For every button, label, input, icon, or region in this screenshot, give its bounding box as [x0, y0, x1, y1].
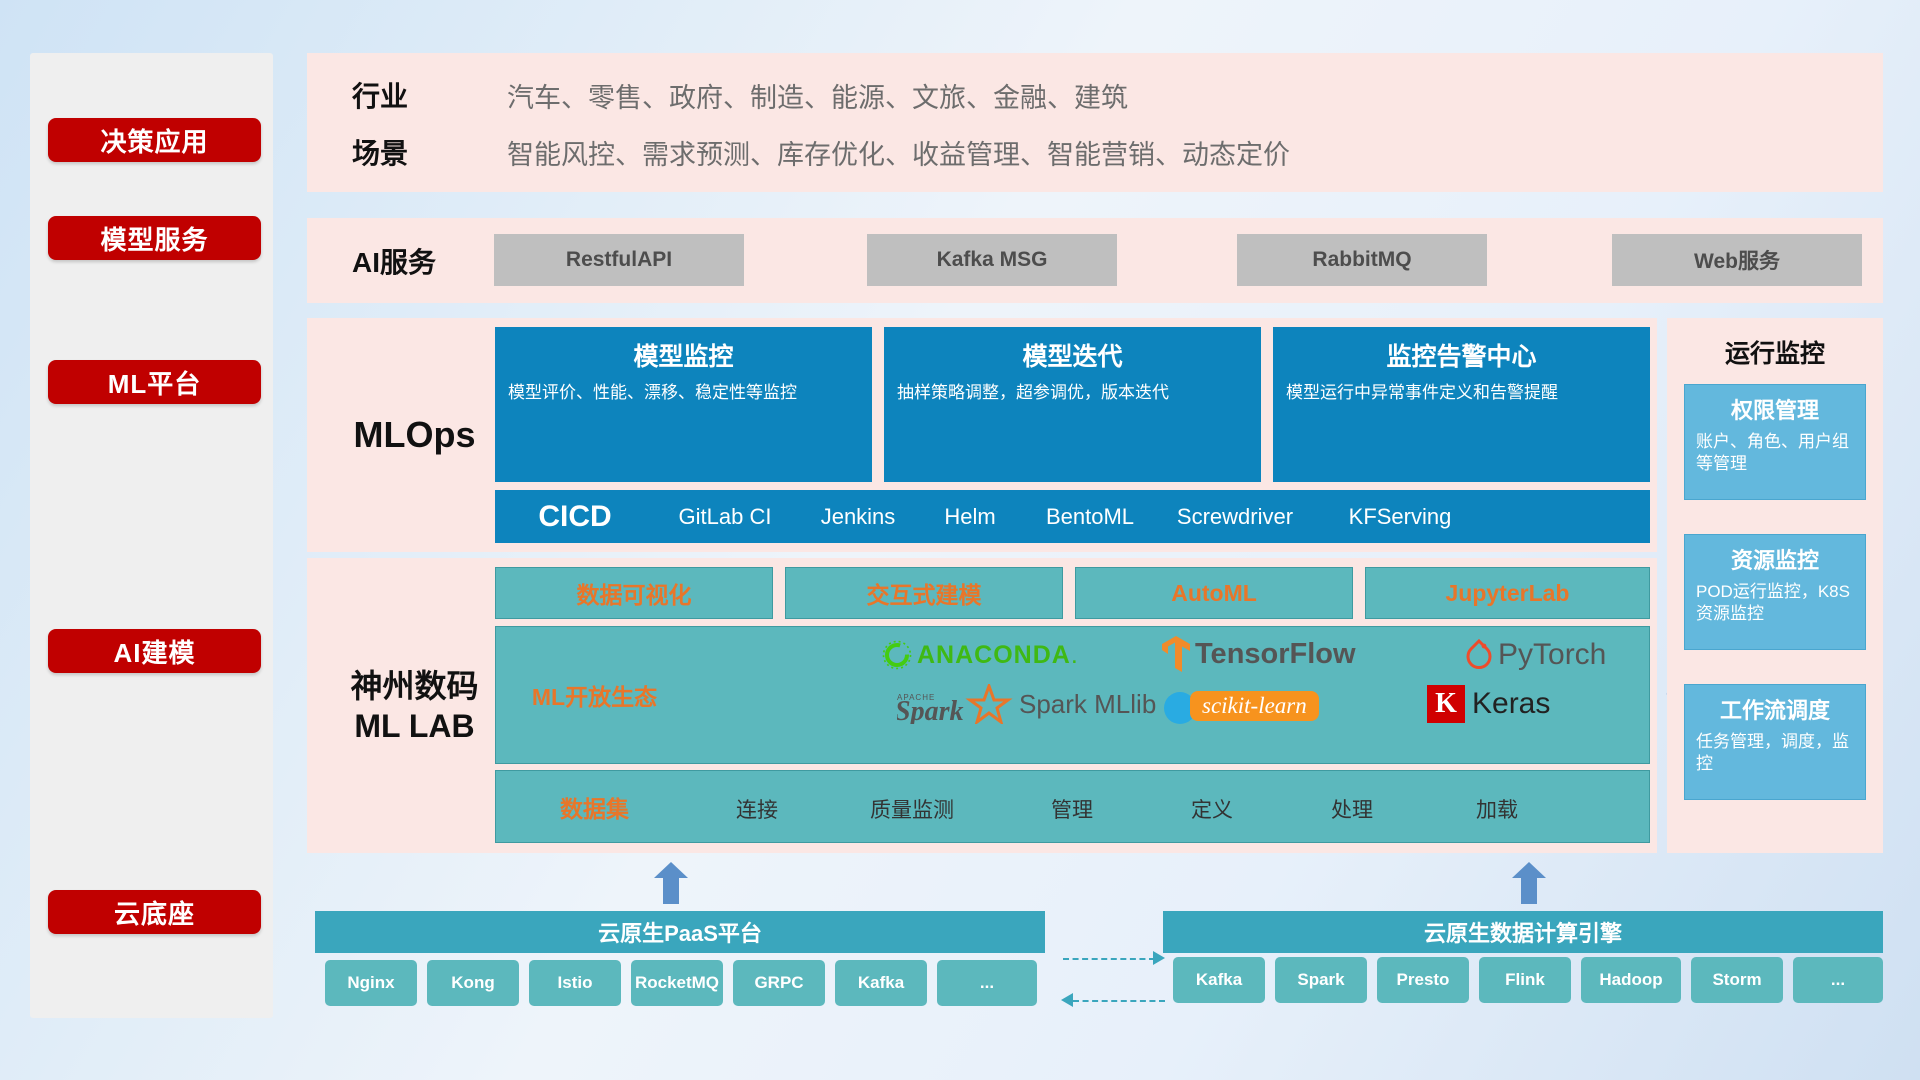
mlops-card-title: 模型迭代 [897, 337, 1248, 373]
tensorflow-logo-text: TensorFlow [1195, 638, 1356, 671]
mlops-card-alert-center[interactable]: 监控告警中心 模型运行中异常事件定义和告警提醒 [1273, 327, 1650, 482]
tensorflow-logo: TensorFlow [1162, 634, 1356, 674]
dataset-item-connect[interactable]: 连接 [692, 794, 822, 824]
ml-lab-label-line2: ML LAB [354, 706, 474, 746]
engine-chip-hadoop[interactable]: Hadoop [1581, 957, 1681, 1003]
monitoring-card-title: 工作流调度 [1696, 693, 1854, 725]
layer-label-aimodeling[interactable]: AI建模 [48, 629, 261, 673]
mllib-text: Spark MLlib [1019, 689, 1156, 720]
spark-icon: APACHE Spark [897, 684, 1015, 724]
anaconda-logo-text: ANACONDA [917, 641, 1071, 670]
data-engine-title-bar: 云原生数据计算引擎 [1163, 911, 1883, 953]
monitoring-panel: 运行监控 权限管理 账户、角色、用户组等管理 资源监控 POD运行监控，K8S资… [1667, 318, 1883, 853]
cicd-item-helm[interactable]: Helm [915, 504, 1025, 529]
anaconda-icon [882, 640, 912, 670]
spark-mllib-logo: APACHE Spark Spark MLlib [897, 684, 1156, 724]
engine-chip-kafka[interactable]: Kafka [1173, 957, 1265, 1003]
paas-up-arrow-icon [654, 862, 688, 904]
dataset-item-load[interactable]: 加载 [1432, 794, 1562, 824]
cicd-item-screwdriver[interactable]: Screwdriver [1160, 504, 1310, 529]
monitoring-card-body: POD运行监控，K8S资源监控 [1696, 581, 1854, 626]
monitoring-card-title: 资源监控 [1696, 543, 1854, 575]
mlops-panel: MLOps 模型监控 模型评价、性能、漂移、稳定性等监控 模型迭代 抽样策略调整… [307, 318, 1657, 552]
monitoring-card-permissions[interactable]: 权限管理 账户、角色、用户组等管理 [1684, 384, 1866, 500]
dataset-lead: 数据集 [507, 770, 682, 843]
engine-chip-storm[interactable]: Storm [1691, 957, 1783, 1003]
engine-chip-more[interactable]: ... [1793, 957, 1883, 1003]
mlops-card-title: 模型监控 [508, 337, 859, 373]
scikit-learn-logo-text: scikit-learn [1202, 693, 1307, 718]
layer-rail: 决策应用 模型服务 ML平台 AI建模 云底座 [30, 53, 273, 1018]
ml-lab-tab-visualization[interactable]: 数据可视化 [495, 567, 773, 619]
connector-arrow-left-icon [1061, 993, 1073, 1007]
cicd-item-jenkins[interactable]: Jenkins [810, 504, 906, 529]
ml-lab-tab-jupyterlab[interactable]: JupyterLab [1365, 567, 1650, 619]
mlops-card-model-monitoring[interactable]: 模型监控 模型评价、性能、漂移、稳定性等监控 [495, 327, 872, 482]
ai-service-chip-webservice[interactable]: Web服务 [1612, 234, 1862, 286]
layer-label-cloudbase[interactable]: 云底座 [48, 890, 261, 934]
keras-logo-text: Keras [1472, 687, 1550, 721]
paas-chip-rocketmq[interactable]: RocketMQ [631, 960, 723, 1006]
architecture-diagram: 决策应用 模型服务 ML平台 AI建模 云底座 行业 汽车、零售、政府、制造、能… [0, 0, 1920, 1080]
mlops-card-model-iteration[interactable]: 模型迭代 抽样策略调整，超参调优，版本迭代 [884, 327, 1261, 482]
monitoring-card-resources[interactable]: 资源监控 POD运行监控，K8S资源监控 [1684, 534, 1866, 650]
engine-chip-presto[interactable]: Presto [1377, 957, 1469, 1003]
engine-chip-spark[interactable]: Spark [1275, 957, 1367, 1003]
svg-text:Spark: Spark [897, 696, 963, 724]
scikit-learn-logo: scikit-learn [1162, 686, 1319, 726]
keras-logo: K Keras [1427, 684, 1550, 724]
scenario-row-label: 场景 [352, 128, 472, 176]
dataset-item-manage[interactable]: 管理 [1007, 794, 1137, 824]
ai-service-panel: AI服务 RestfulAPI Kafka MSG RabbitMQ Web服务 [307, 218, 1883, 303]
monitoring-card-workflow[interactable]: 工作流调度 任务管理，调度，监控 [1684, 684, 1866, 800]
data-engine-up-arrow-icon [1512, 862, 1546, 904]
connector-arrow-right-icon [1153, 951, 1165, 965]
dataset-item-process[interactable]: 处理 [1287, 794, 1417, 824]
tensorflow-icon [1162, 636, 1190, 672]
cicd-item-gitlabci[interactable]: GitLab CI [650, 504, 800, 529]
ml-lab-panel: 神州数码 ML LAB 数据可视化 交互式建模 AutoML JupyterLa… [307, 558, 1657, 853]
paas-chip-kong[interactable]: Kong [427, 960, 519, 1006]
keras-icon: K [1427, 685, 1465, 723]
dataset-item-quality[interactable]: 质量监测 [832, 794, 992, 824]
ai-service-label: AI服务 [352, 218, 512, 303]
ai-service-chip-rabbitmq[interactable]: RabbitMQ [1237, 234, 1487, 286]
ai-service-chip-restfulapi[interactable]: RestfulAPI [494, 234, 744, 286]
paas-chip-more[interactable]: ... [937, 960, 1037, 1006]
mlops-card-title: 监控告警中心 [1286, 337, 1637, 373]
anaconda-logo: ANACONDA . [882, 638, 1078, 672]
ml-lab-tab-interactive[interactable]: 交互式建模 [785, 567, 1063, 619]
industry-row-value: 汽车、零售、政府、制造、能源、文旅、金融、建筑 [507, 71, 1128, 119]
monitoring-card-body: 账户、角色、用户组等管理 [1696, 431, 1854, 476]
monitoring-title: 运行监控 [1667, 334, 1883, 370]
paas-chip-kafka[interactable]: Kafka [835, 960, 927, 1006]
connector-dash-left [1073, 1000, 1165, 1002]
monitoring-card-title: 权限管理 [1696, 393, 1854, 425]
ml-ecosystem-lead: ML开放生态 [507, 626, 682, 764]
scenario-row-value: 智能风控、需求预测、库存优化、收益管理、智能营销、动态定价 [507, 128, 1290, 176]
cicd-bar: CICD GitLab CI Jenkins Helm BentoML Scre… [495, 490, 1650, 543]
layer-label-decision[interactable]: 决策应用 [48, 118, 261, 162]
pytorch-logo: PyTorch [1465, 636, 1606, 674]
monitoring-card-body: 任务管理，调度，监控 [1696, 731, 1854, 776]
mlops-card-body: 模型评价、性能、漂移、稳定性等监控 [508, 382, 859, 405]
ml-lab-label: 神州数码 ML LAB [327, 558, 502, 853]
paas-chip-nginx[interactable]: Nginx [325, 960, 417, 1006]
cicd-item-kfserving[interactable]: KFServing [1330, 504, 1470, 529]
ml-lab-label-line1: 神州数码 [350, 666, 478, 706]
layer-label-mlplatform[interactable]: ML平台 [48, 360, 261, 404]
mlops-card-body: 模型运行中异常事件定义和告警提醒 [1286, 382, 1637, 405]
paas-title-bar: 云原生PaaS平台 [315, 911, 1045, 953]
dataset-item-define[interactable]: 定义 [1147, 794, 1277, 824]
paas-chip-istio[interactable]: Istio [529, 960, 621, 1006]
pytorch-logo-text: PyTorch [1498, 638, 1606, 672]
cicd-item-bentoml[interactable]: BentoML [1035, 504, 1145, 529]
engine-chip-flink[interactable]: Flink [1479, 957, 1571, 1003]
industry-row-label: 行业 [352, 71, 472, 119]
mlops-card-body: 抽样策略调整，超参调优，版本迭代 [897, 382, 1248, 405]
paas-chip-grpc[interactable]: GRPC [733, 960, 825, 1006]
ml-lab-tab-automl[interactable]: AutoML [1075, 567, 1353, 619]
pytorch-icon [1465, 639, 1493, 671]
ai-service-chip-kafkamsg[interactable]: Kafka MSG [867, 234, 1117, 286]
industry-scenario-panel: 行业 汽车、零售、政府、制造、能源、文旅、金融、建筑 场景 智能风控、需求预测、… [307, 53, 1883, 192]
connector-dash-right [1063, 958, 1155, 960]
mlops-label: MLOps [327, 318, 502, 552]
layer-label-modelserv[interactable]: 模型服务 [48, 216, 261, 260]
cicd-lead-label: CICD [505, 500, 645, 535]
